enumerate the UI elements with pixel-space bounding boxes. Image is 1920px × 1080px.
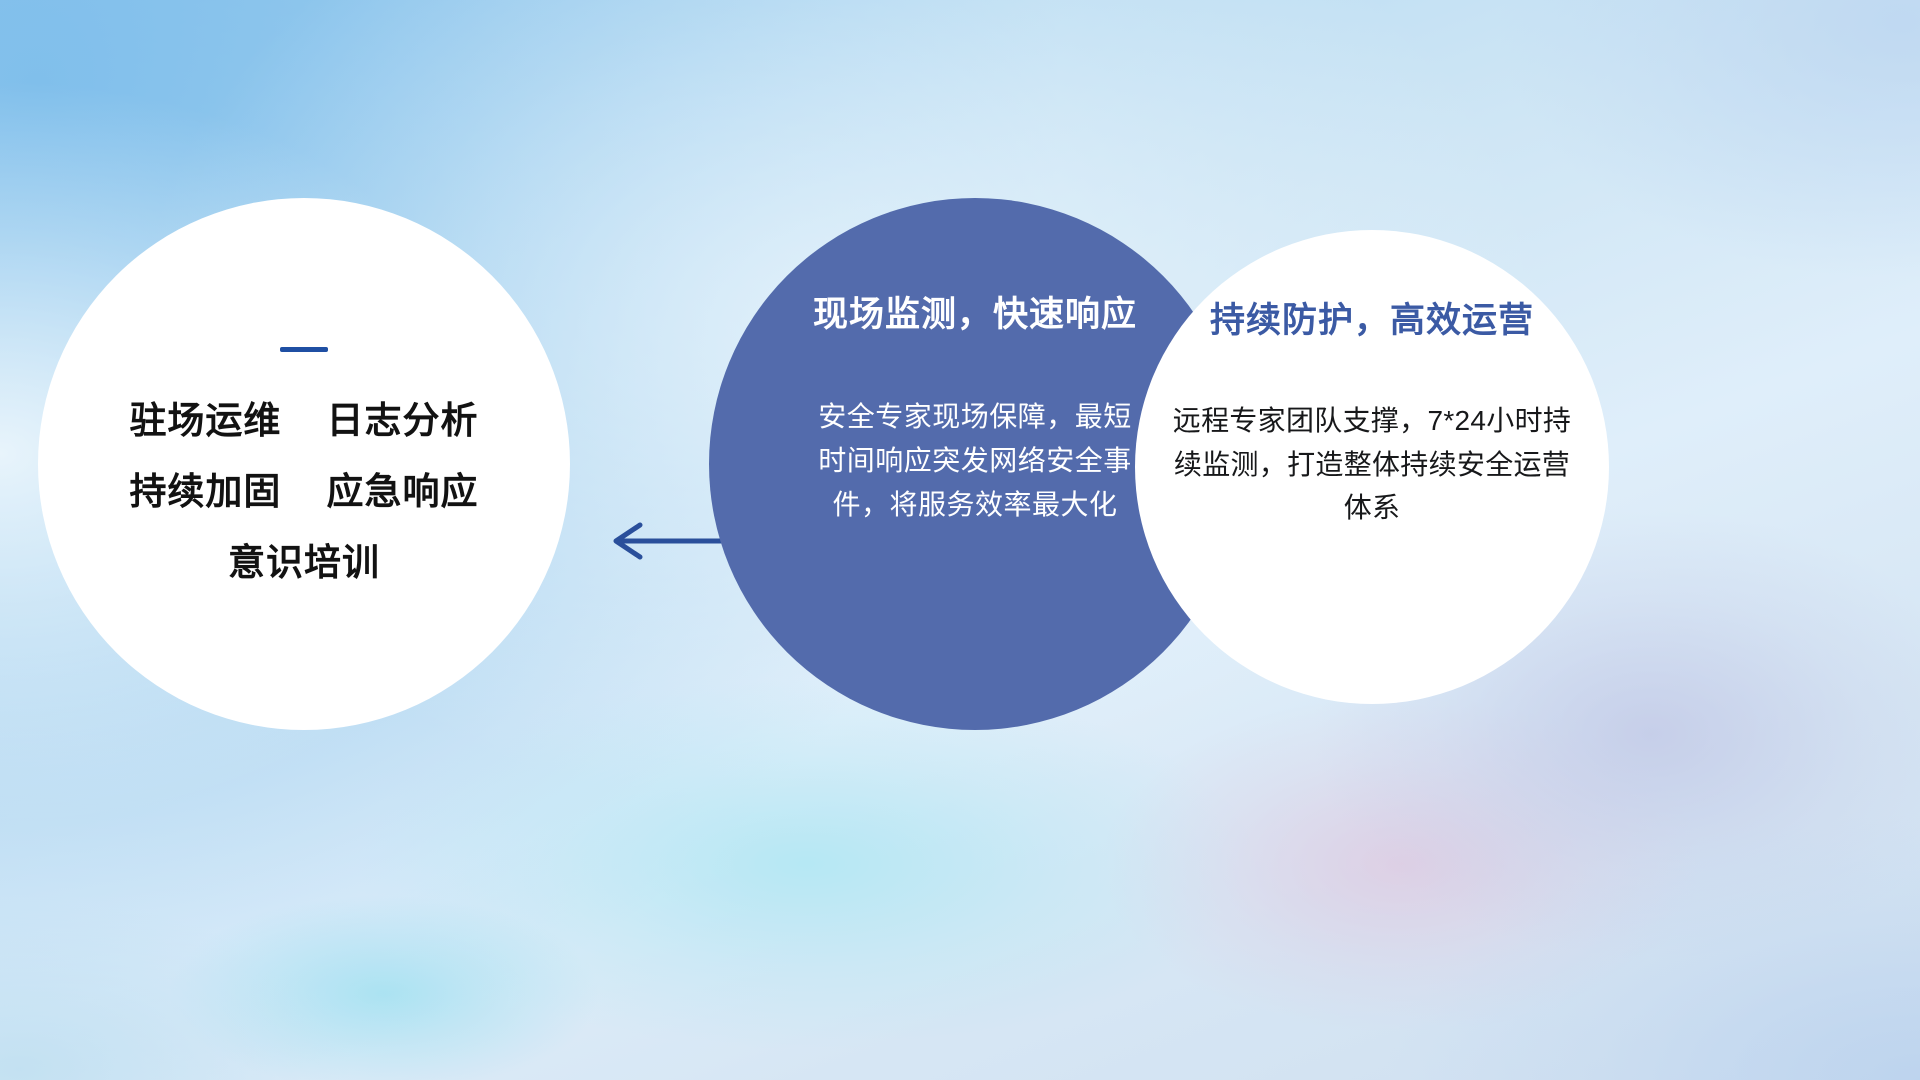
capability-line-2: 持续加固 应急响应 — [129, 473, 478, 510]
onsite-monitoring-title: 现场监测，快速响应 — [813, 286, 1137, 337]
continuous-protection-title: 持续防护，高效运营 — [1210, 292, 1534, 343]
slide-canvas: 驻场运维 日志分析 持续加固 应急响应 意识培训 现场监测，快速响应 安全专家现… — [0, 0, 1920, 1080]
continuous-protection-body: 远程专家团队支撑，7*24小时持续监测，打造整体持续安全运营体系 — [1172, 399, 1572, 530]
divider-rule — [280, 347, 328, 352]
onsite-monitoring-body: 安全专家现场保障，最短时间响应突发网络安全事件，将服务效率最大化 — [810, 395, 1140, 528]
capability-line-3: 意识培训 — [228, 544, 380, 581]
capabilities-circle: 驻场运维 日志分析 持续加固 应急响应 意识培训 — [38, 198, 570, 730]
capability-line-1: 驻场运维 日志分析 — [129, 402, 478, 439]
continuous-protection-circle: 持续防护，高效运营 远程专家团队支撑，7*24小时持续监测，打造整体持续安全运营… — [1135, 230, 1609, 704]
